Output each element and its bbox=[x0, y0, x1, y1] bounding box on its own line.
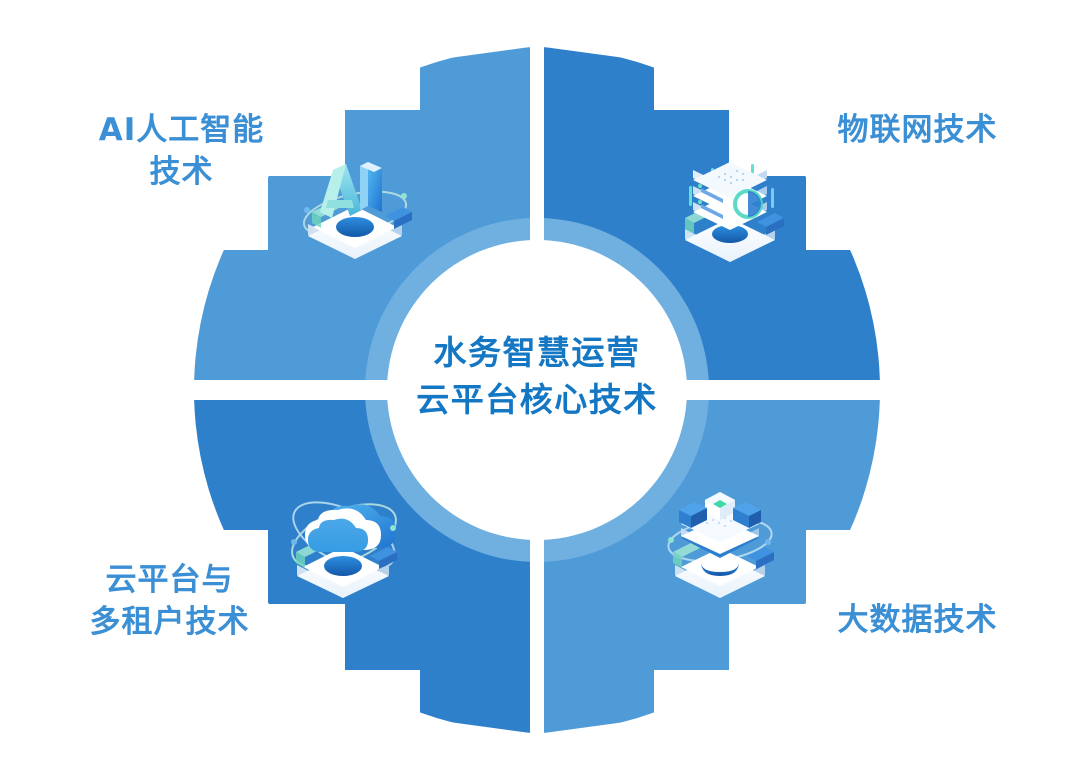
label-iot: 物联网技术 bbox=[800, 110, 1035, 152]
label-bigdata: 大数据技术 bbox=[800, 600, 1035, 642]
center-title: 水务智慧运营 云平台核心技术 bbox=[387, 330, 687, 424]
cloud-platform-icon bbox=[278, 478, 408, 608]
ai-cube-icon bbox=[290, 140, 420, 270]
label-ai: AI人工智能 技术 bbox=[64, 110, 299, 194]
label-cloud: 云平台与 多租户技术 bbox=[52, 560, 287, 644]
big-data-cube-icon bbox=[655, 478, 785, 608]
diagram-canvas: AI人工智能 技术 物联网技术 云平台与 多租户技术 大数据技术 水务智慧运营 … bbox=[0, 0, 1080, 776]
iot-server-rack-icon bbox=[665, 142, 795, 272]
